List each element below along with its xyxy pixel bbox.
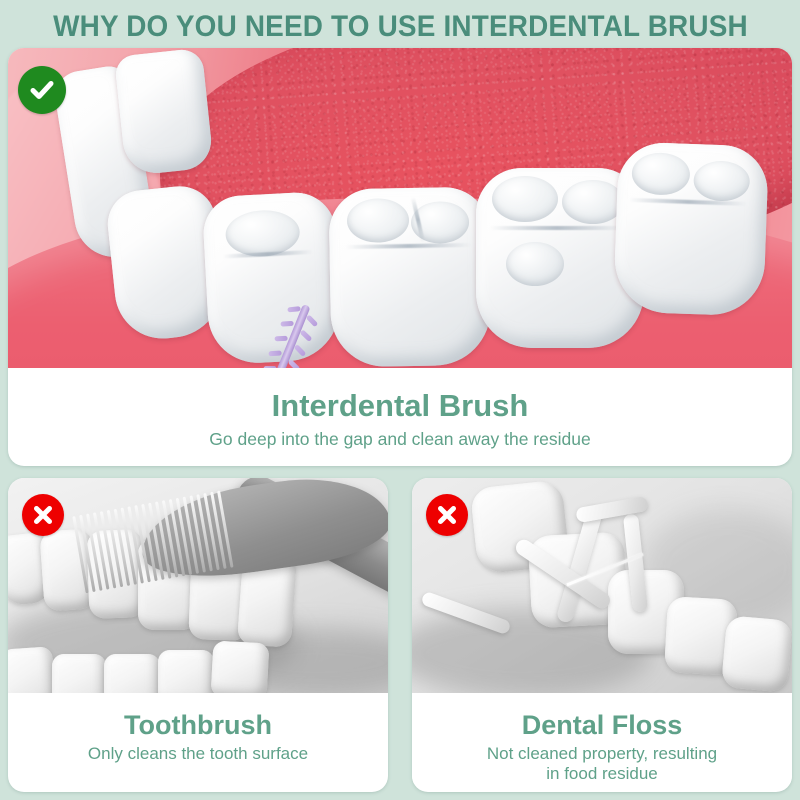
tooth-cusp <box>693 160 750 202</box>
card-toothbrush[interactable]: Toothbrush Only cleans the tooth surface <box>8 478 388 792</box>
card-dental-floss[interactable]: Dental Floss Not cleaned property, resul… <box>412 478 792 792</box>
tooth-cusp <box>562 180 624 224</box>
cross-badge-icon <box>22 494 64 536</box>
tooth-cusp <box>492 176 558 222</box>
tooth-lower <box>104 654 160 693</box>
page-title: WHY DO YOU NEED TO USE INTERDENTAL BRUSH <box>53 10 748 44</box>
tooth-cusp <box>506 242 564 286</box>
tooth-lower <box>52 654 106 693</box>
tooth-cusp <box>347 198 410 243</box>
brush-bristle <box>280 321 293 327</box>
card-interdental-brush[interactable]: Interdental Brush Go deep into the gap a… <box>8 48 792 466</box>
tooth-groove <box>490 226 624 230</box>
brush-bristle <box>275 336 288 341</box>
brush-bristle <box>287 306 300 312</box>
tooth-incisor <box>114 48 214 176</box>
tooth-lower <box>158 650 214 693</box>
cross-badge-icon <box>426 494 468 536</box>
photo-dental-floss <box>412 478 792 693</box>
brush-bristle <box>306 314 319 327</box>
gum-scene <box>8 48 792 368</box>
brush-bristle <box>264 366 277 368</box>
caption-toothbrush: Toothbrush Only cleans the tooth surface <box>8 693 388 764</box>
tooth-lower <box>211 641 270 693</box>
tooth-molar <box>328 187 491 368</box>
photo-interdental-brush <box>8 48 792 368</box>
photo-toothbrush <box>8 478 388 693</box>
floss-scene <box>412 478 792 693</box>
caption-dental-floss: Dental Floss Not cleaned property, resul… <box>412 693 792 784</box>
infographic-poster: WHY DO YOU NEED TO USE INTERDENTAL BRUSH <box>0 0 800 800</box>
brush-bristle <box>294 344 307 357</box>
tooth-molar <box>613 141 769 316</box>
tooth-lower <box>8 646 56 693</box>
header-bar: WHY DO YOU NEED TO USE INTERDENTAL BRUSH <box>0 0 800 50</box>
tooth-cusp <box>631 152 690 196</box>
tooth-premolar <box>202 191 343 366</box>
tooth-groove <box>223 250 313 259</box>
card-subtext-line2: in food residue <box>412 764 792 784</box>
brush-bristle <box>268 350 281 356</box>
card-heading: Interdental Brush <box>8 390 792 423</box>
tooth-molar <box>721 615 792 692</box>
tooth-groove <box>345 243 471 249</box>
card-subtext: Only cleans the tooth surface <box>8 744 388 764</box>
card-heading: Toothbrush <box>8 711 388 739</box>
card-subtext-line1: Not cleaned property, resulting <box>412 744 792 764</box>
toothbrush-scene <box>8 478 388 693</box>
card-subtext: Go deep into the gap and clean away the … <box>8 429 792 450</box>
check-badge-icon <box>18 66 66 114</box>
caption-interdental-brush: Interdental Brush Go deep into the gap a… <box>8 368 792 449</box>
card-heading: Dental Floss <box>412 711 792 739</box>
brush-bristle <box>300 329 313 342</box>
